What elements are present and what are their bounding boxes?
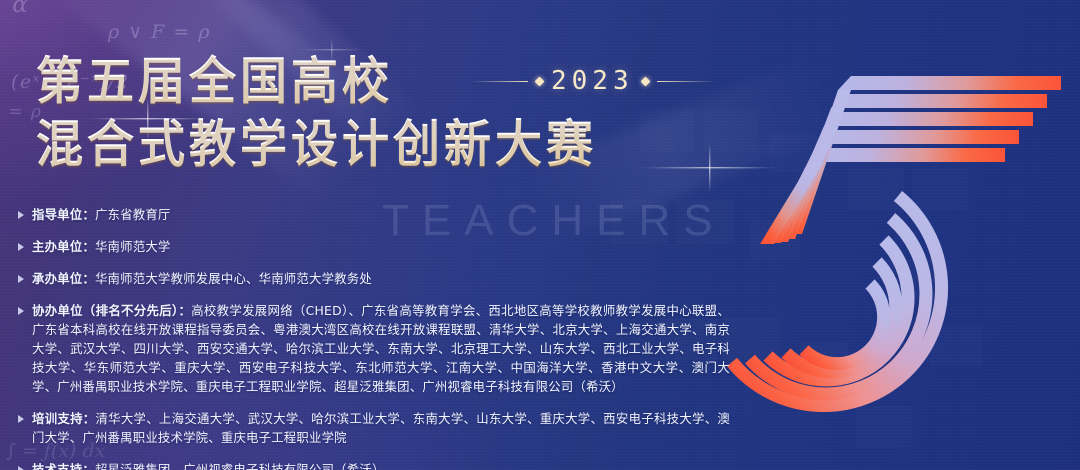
info-item-value: 华南师范大学 (95, 239, 171, 254)
info-item-host-unit: 主办单位：华南师范大学 (18, 237, 730, 256)
numeral-five-svg (716, 36, 1080, 470)
year-rule-left (470, 81, 528, 82)
info-item-label: 主办单位： (32, 239, 95, 254)
info-item-organizer-unit: 承办单位：华南师范大学教师发展中心、华南师范大学教务处 (18, 269, 730, 288)
info-item-co-organizer-unit: 协办单位（排名不分先后）：高校教学发展网络（CHED）、广东省高等教育学会、西北… (18, 301, 730, 396)
info-item-label: 培训支持： (32, 411, 95, 426)
bullet-triangle-icon (18, 466, 24, 470)
info-item-value: 清华大学、上海交通大学、武汉大学、哈尔滨工业大学、东南大学、山东大学、重庆大学、… (32, 411, 730, 445)
year-badge: 2023 (470, 66, 715, 96)
info-item-technical-support: 技术支持：超星泛雅集团、广州视睿电子科技有限公司（希沃） (18, 460, 730, 470)
info-item-label: 指导单位： (32, 207, 95, 222)
year-rule-right (657, 81, 715, 82)
info-item-training-support: 培训支持：清华大学、上海交通大学、武汉大学、哈尔滨工业大学、东南大学、山东大学、… (18, 409, 730, 447)
info-item-text: 技术支持：超星泛雅集团、广州视睿电子科技有限公司（希沃） (32, 460, 385, 470)
bullet-triangle-icon (18, 275, 24, 283)
numeral-five-graphic (716, 36, 1080, 470)
info-item-text: 主办单位：华南师范大学 (32, 237, 171, 256)
bullet-triangle-icon (18, 307, 24, 315)
info-item-value: 广东省教育厅 (95, 207, 171, 222)
five-top-bars (810, 76, 1061, 162)
info-item-text: 协办单位（排名不分先后）：高校教学发展网络（CHED）、广东省高等教育学会、西北… (32, 301, 730, 396)
info-item-value: 华南师范大学教师发展中心、华南师范大学教务处 (95, 271, 372, 286)
info-list: 指导单位：广东省教育厅 主办单位：华南师范大学 承办单位：华南师范大学教师发展中… (18, 205, 730, 470)
five-diagonal-strokes (760, 90, 851, 244)
info-item-label: 协办单位（排名不分先后）： (32, 303, 191, 318)
info-item-text: 培训支持：清华大学、上海交通大学、武汉大学、哈尔滨工业大学、东南大学、山东大学、… (32, 409, 730, 447)
info-item-label: 技术支持： (32, 462, 95, 470)
info-item-value: 超星泛雅集团、广州视睿电子科技有限公司（希沃） (95, 462, 385, 470)
year-label: 2023 (551, 66, 634, 96)
event-banner: ∫ α ρ ∨ F = ρ = (eˣ – e⁻ˣ)/2 F = ρ ∫ = ƒ… (0, 0, 1080, 470)
info-item-guidance-unit: 指导单位：广东省教育厅 (18, 205, 730, 224)
info-item-label: 承办单位： (32, 271, 95, 286)
diamond-sparkle-icon (535, 76, 545, 86)
formula-line: ρ ∨ F = ρ (0, 21, 211, 43)
bullet-triangle-icon (18, 243, 24, 251)
bullet-triangle-icon (18, 211, 24, 219)
formula-line: ∫ α (0, 0, 211, 18)
info-item-text: 指导单位：广东省教育厅 (32, 205, 171, 224)
title-line-2: 混合式教学设计创新大赛 (36, 115, 756, 175)
info-item-text: 承办单位：华南师范大学教师发展中心、华南师范大学教务处 (32, 269, 372, 288)
bullet-triangle-icon (18, 415, 24, 423)
diamond-sparkle-icon (640, 76, 650, 86)
five-arc-strokes (732, 196, 942, 406)
